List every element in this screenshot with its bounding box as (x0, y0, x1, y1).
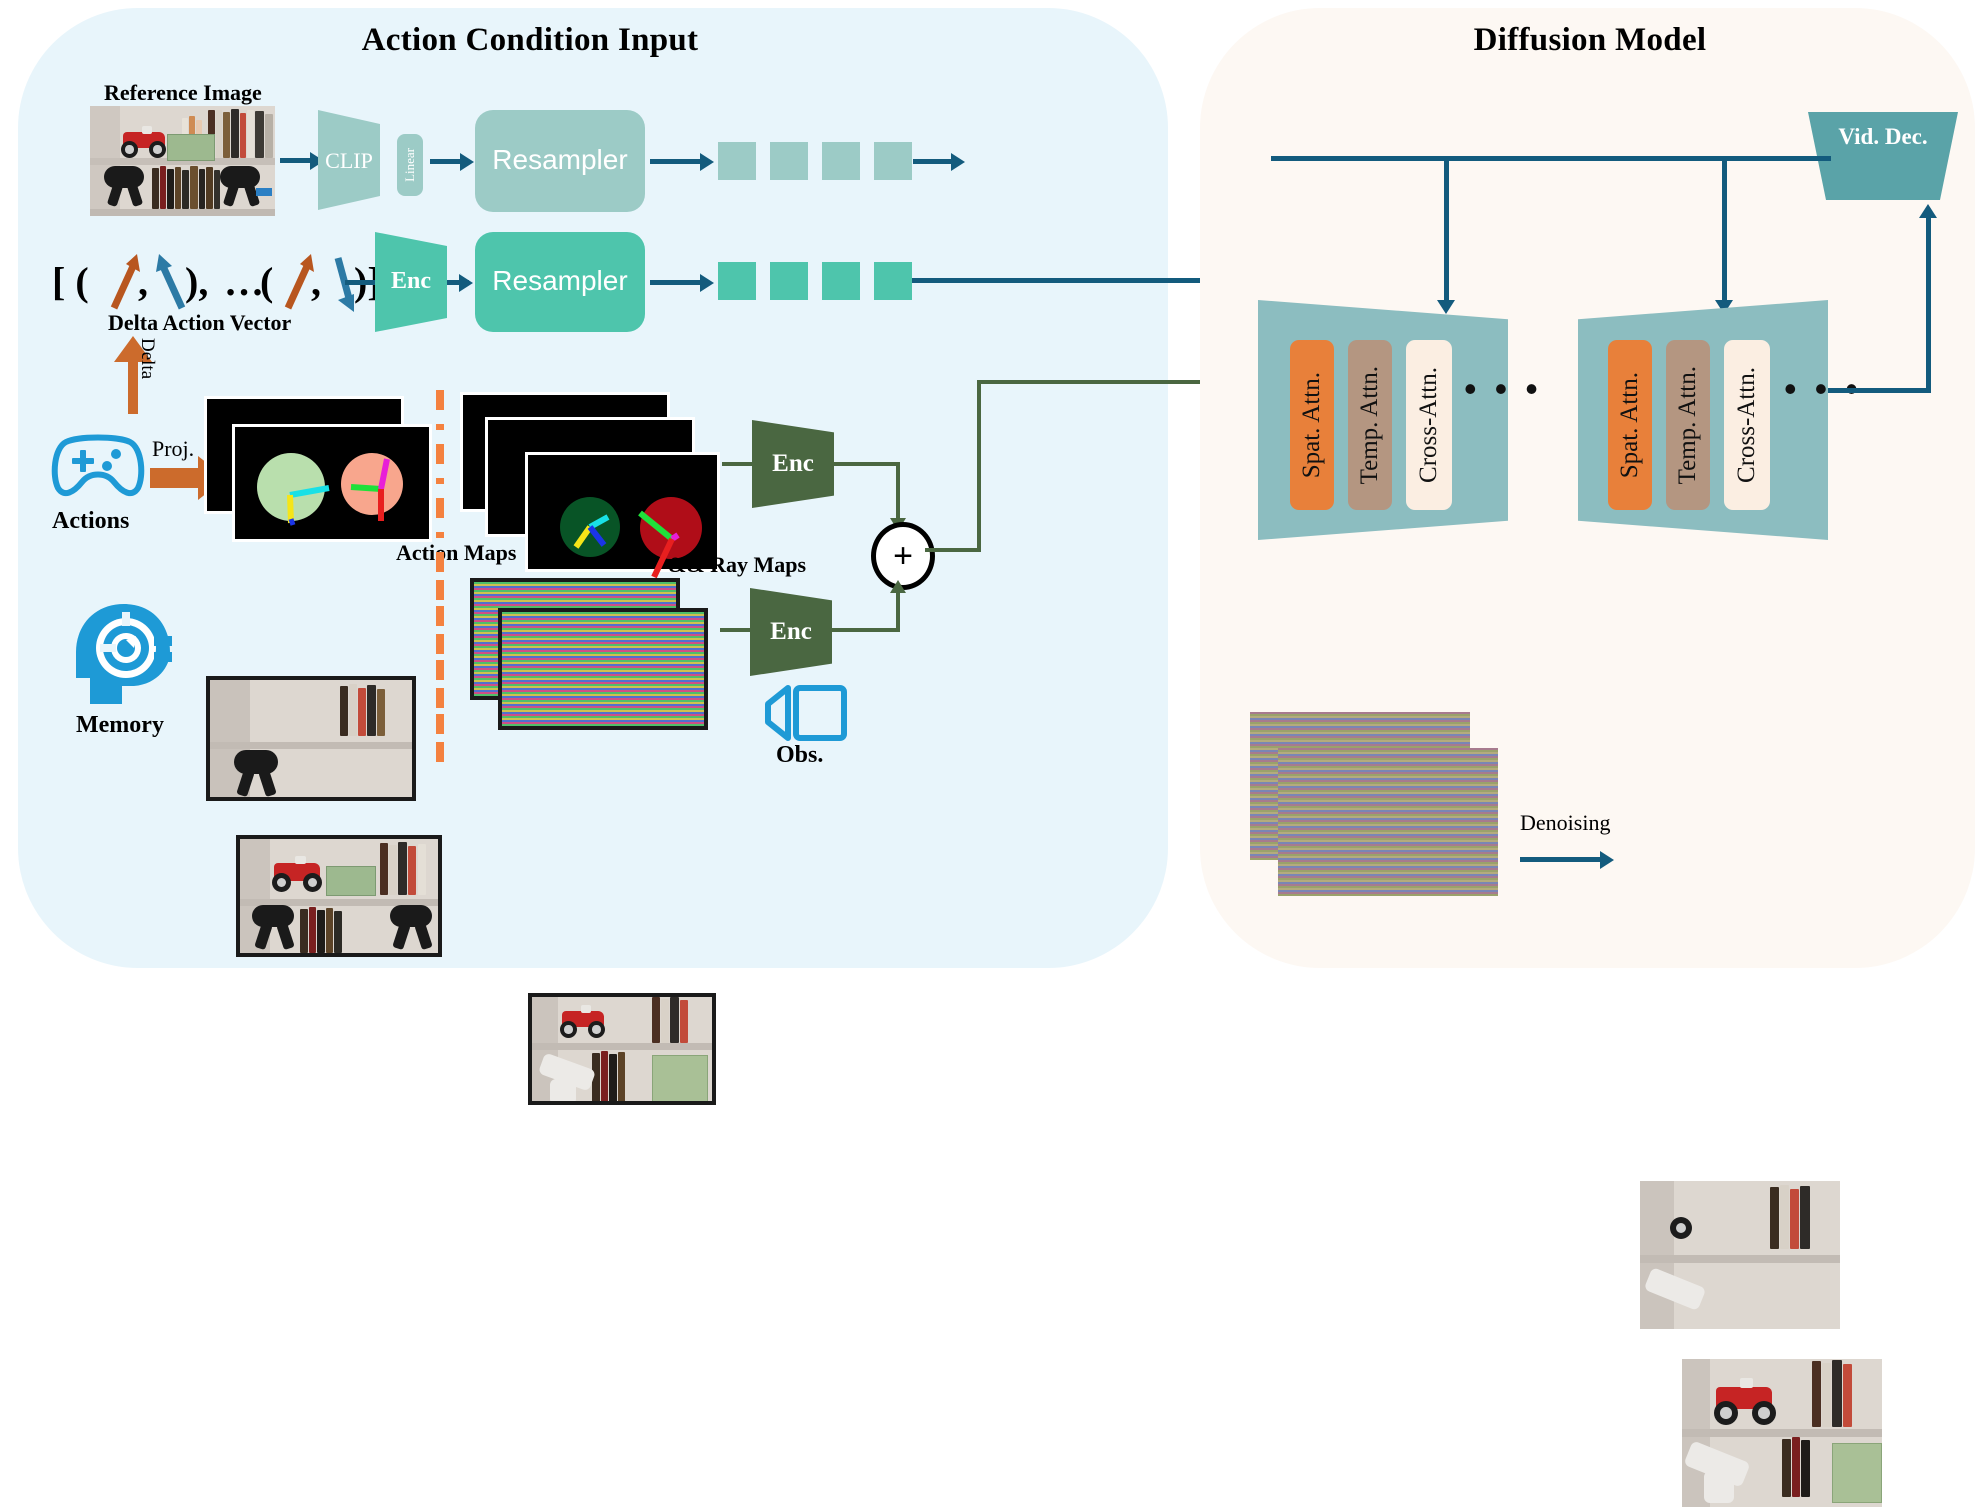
enc-label-1: Enc (375, 268, 447, 295)
token-square-bottom-4 (874, 262, 912, 300)
line-enc3-right (832, 628, 900, 632)
line-unet2-to-viddec-v (1926, 216, 1931, 393)
cond-drop-1-head (1437, 300, 1455, 314)
denoise-input-front (1278, 748, 1498, 896)
gamepad-icon (48, 432, 148, 504)
delta-up-arrow (100, 334, 170, 414)
cross-attn-label-2: Cross-Attn. (1733, 367, 1761, 483)
ray-maps-label: && Ray Maps (668, 552, 806, 578)
line-unet2-to-viddec-head (1919, 204, 1937, 218)
denoise-output-back (1640, 1181, 1840, 1329)
spat-attn-label-1: Spat. Attn. (1298, 372, 1326, 478)
token-square-bottom-1 (718, 262, 756, 300)
spat-attn-label-2: Spat. Attn. (1616, 372, 1644, 478)
token-square-bottom-2 (770, 262, 808, 300)
temp-attn-label-2: Temp. Attn. (1674, 366, 1702, 484)
line-enc3-up (896, 592, 900, 630)
arrow-ref-to-clip (280, 158, 310, 163)
temp-attn-label-1: Temp. Attn. (1356, 366, 1384, 484)
delta-label-wrap: Delta (136, 338, 158, 384)
linear-label-wrap: Linear (397, 134, 423, 196)
cross-attn-label-1: Cross-Attn. (1415, 367, 1443, 483)
vertical-dash-divider-2 (432, 580, 448, 770)
action-maps-label: Action Maps (396, 540, 516, 566)
left-panel-title: Action Condition Input (330, 22, 730, 59)
video-decoder-label: Vid. Dec. (1808, 124, 1958, 150)
token-square-top-1 (718, 142, 756, 180)
denoising-label: Denoising (1520, 810, 1610, 836)
actions-label: Actions (52, 508, 129, 535)
clip-label: CLIP (318, 148, 380, 174)
delta-action-vector-label: Delta Action Vector (108, 310, 291, 336)
arrow-linear-to-resampler-head (460, 153, 474, 171)
line-enc2-down (896, 462, 900, 520)
arrow-raymaps-to-enc (722, 462, 754, 466)
line-unet2-to-viddec-h (1828, 388, 1931, 393)
action-map-frame-front (232, 424, 432, 542)
token-square-top-2 (770, 142, 808, 180)
spat-attn-pill-1[interactable]: Spat. Attn. (1290, 340, 1334, 510)
right-panel-title: Diffusion Model (1390, 22, 1790, 59)
arrow-tokens-to-plus-head (951, 153, 965, 171)
memory-photo-front (236, 835, 442, 957)
resampler-label-2: Resampler (475, 265, 645, 297)
token-square-top-4 (874, 142, 912, 180)
linear-label: Linear (402, 148, 418, 182)
cond-drop-2 (1722, 156, 1727, 304)
cond-drop-1 (1444, 156, 1449, 304)
arrow-resampler2-to-tokens-head (700, 274, 714, 292)
arrow-enc-to-resampler2-head (459, 274, 473, 292)
temp-attn-pill-1[interactable]: Temp. Attn. (1348, 340, 1392, 510)
obs-label: Obs. (776, 742, 823, 769)
token-square-bottom-3 (822, 262, 860, 300)
temp-attn-pill-2[interactable]: Temp. Attn. (1666, 340, 1710, 510)
line-tokens2-right (912, 278, 1247, 283)
delta-label: Delta (136, 338, 158, 379)
arrow-dav-to-enc (345, 280, 377, 285)
unet-ellipsis-1: • • • (1464, 368, 1542, 410)
arrow-resampler1-to-tokens-head (700, 153, 714, 171)
arrow-tokens-to-plus (913, 159, 951, 164)
cross-attn-pill-1[interactable]: Cross-Attn. (1406, 340, 1452, 510)
noisy-obs-front (528, 993, 716, 1105)
line-enc2-right (834, 462, 900, 466)
reference-image-label: Reference Image (104, 80, 262, 106)
enc-label-3: Enc (750, 618, 832, 646)
noisy-obs-mid (498, 608, 708, 730)
camera-obs-icon (762, 682, 848, 746)
denoise-output-front (1682, 1359, 1882, 1507)
arrow-linear-to-resampler (430, 159, 460, 164)
memory-photo-back (206, 676, 416, 801)
line-plus-to-unet-v (977, 380, 981, 552)
denoising-arrow-head (1600, 851, 1614, 869)
line-plus-to-unet-h (925, 548, 981, 552)
memory-label: Memory (76, 712, 164, 739)
resampler-label-1: Resampler (475, 144, 645, 176)
arrow-resampler1-to-tokens (650, 159, 700, 164)
arrow-resampler2-to-tokens (650, 280, 700, 285)
arrow-obs-to-enc (720, 628, 752, 632)
reference-image-photo (90, 106, 275, 216)
denoising-arrow (1520, 857, 1600, 862)
line-enc3-up-head (890, 580, 906, 593)
cond-bus-horizontal (1271, 156, 1831, 161)
enc-label-2: Enc (752, 450, 834, 478)
token-square-top-3 (822, 142, 860, 180)
memory-brain-icon (70, 600, 178, 716)
spat-attn-pill-2[interactable]: Spat. Attn. (1608, 340, 1652, 510)
cross-attn-pill-2[interactable]: Cross-Attn. (1724, 340, 1770, 510)
